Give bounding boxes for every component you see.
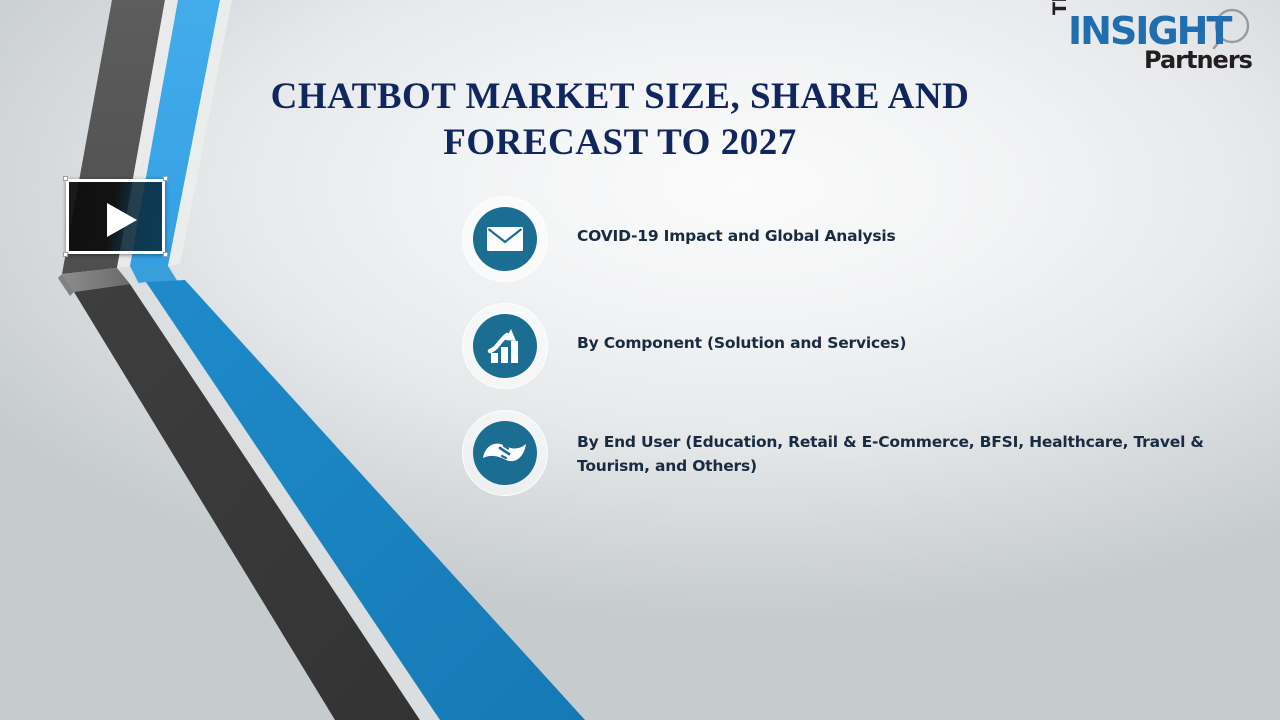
bullet-icon-ring-1: [462, 196, 548, 282]
bullet-icon-ring-3: [462, 410, 548, 496]
page-title-line-1: CHATBOT MARKET SIZE, SHARE AND: [240, 74, 1000, 120]
video-placeholder[interactable]: [66, 179, 165, 254]
bar-chart-growth-icon: [473, 314, 537, 378]
insight-partners-logo: The INSIGHT Partners: [1046, 6, 1266, 78]
list-item-label: By Component (Solution and Services): [577, 303, 906, 355]
resize-handle-top-left[interactable]: [63, 176, 68, 181]
ribbon-blue-upper-bevel: [168, 0, 232, 266]
resize-handle-bottom-right[interactable]: [163, 252, 168, 257]
resize-handle-bottom-left[interactable]: [63, 252, 68, 257]
ribbon-fold-cap-gray: [62, 268, 130, 292]
handshake-icon: [473, 421, 537, 485]
video-frame[interactable]: [66, 179, 165, 254]
slide-canvas: The INSIGHT Partners CHATBOT MARKET SIZE…: [0, 0, 1280, 720]
page-title-line-2: FORECAST TO 2027: [240, 120, 1000, 166]
ribbon-gray-lower: [74, 284, 420, 720]
logo-partners-text: Partners: [1144, 46, 1252, 74]
play-icon[interactable]: [107, 203, 137, 237]
bullet-icon-ring-2: [462, 303, 548, 389]
list-item: By End User (Education, Retail & E-Comme…: [462, 410, 1262, 496]
ribbon-gray-lower-bevel: [130, 282, 440, 720]
ribbon-fold-cap-blue: [130, 266, 178, 286]
resize-handle-top-right[interactable]: [163, 176, 168, 181]
ribbon-fold-shadow: [58, 274, 74, 296]
envelope-icon: [473, 207, 537, 271]
list-item: By Component (Solution and Services): [462, 303, 1262, 389]
list-item-label: By End User (Education, Retail & E-Comme…: [577, 410, 1249, 478]
list-item-label: COVID-19 Impact and Global Analysis: [577, 196, 896, 248]
list-item: COVID-19 Impact and Global Analysis: [462, 196, 1262, 282]
page-title: CHATBOT MARKET SIZE, SHARE AND FORECAST …: [240, 74, 1000, 166]
bullet-list: COVID-19 Impact and Global Analysis: [462, 196, 1262, 517]
